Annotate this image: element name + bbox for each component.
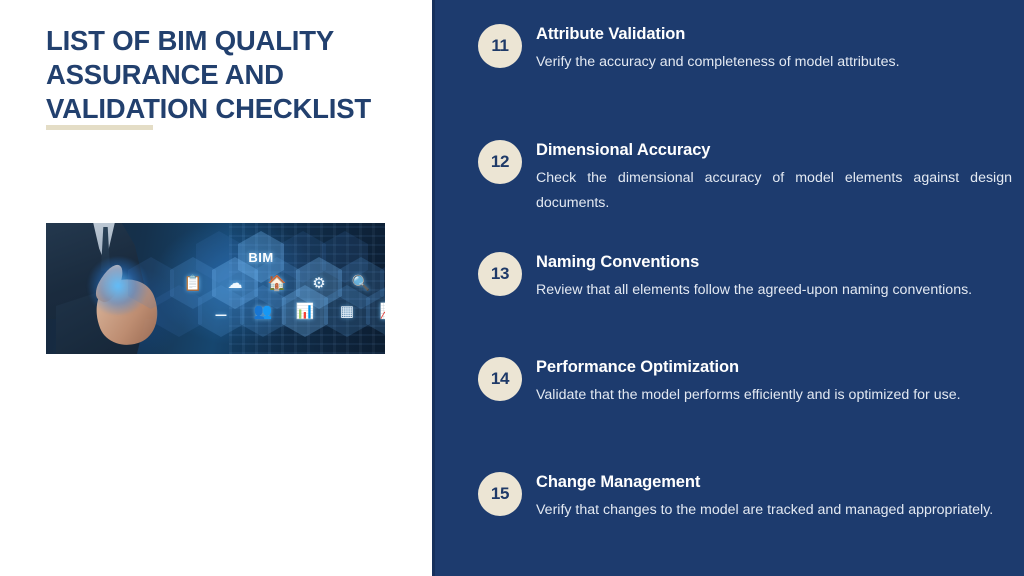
item-number-badge: 12 — [478, 140, 522, 184]
item-text-block: Change Management Verify that changes to… — [536, 472, 1012, 523]
hex-cell-bar-chart: 📊 — [282, 285, 328, 337]
page-title: LIST OF BIM QUALITY ASSURANCE AND VALIDA… — [46, 24, 438, 126]
title-accent-underline — [46, 125, 153, 130]
item-number-badge: 14 — [478, 357, 522, 401]
panel-left-edge — [432, 0, 435, 576]
item-description: Review that all elements follow the agre… — [536, 278, 1012, 303]
item-heading: Dimensional Accuracy — [536, 140, 1012, 160]
hex-cell-empty-6 — [156, 285, 202, 337]
item-text-block: Attribute Validation Verify the accuracy… — [536, 24, 1012, 75]
item-description: Verify that changes to the model are tra… — [536, 498, 1012, 523]
slide-canvas: LIST OF BIM QUALITY ASSURANCE AND VALIDA… — [0, 0, 1024, 576]
hex-cell-org-chart: ▦ — [324, 285, 370, 337]
ruler-icon: ⚊ — [214, 304, 227, 319]
left-panel: LIST OF BIM QUALITY ASSURANCE AND VALIDA… — [0, 0, 432, 576]
hex-cell-line-graph: 📈 — [366, 285, 385, 337]
org-chart-icon: ▦ — [340, 304, 354, 319]
bim-illustration-image: BIM 📋 ☁ 🏠 ⚙ 🔍 ⚊ 👥 📊 ▦ 📈 — [46, 223, 385, 354]
hex-row-bottom: ⚊ 👥 📊 ▦ 📈 — [156, 285, 385, 337]
bar-chart-icon: 📊 — [296, 304, 315, 319]
hex-cell-ruler: ⚊ — [198, 285, 244, 337]
item-description: Verify the accuracy and completeness of … — [536, 50, 1012, 75]
line-graph-icon: 📈 — [380, 304, 385, 319]
item-number-badge: 11 — [478, 24, 522, 68]
item-text-block: Naming Conventions Review that all eleme… — [536, 252, 1012, 303]
item-description: Validate that the model performs efficie… — [536, 383, 1012, 408]
item-number-badge: 15 — [478, 472, 522, 516]
hex-cell-people: 👥 — [240, 285, 286, 337]
item-heading: Performance Optimization — [536, 357, 1012, 377]
item-heading: Attribute Validation — [536, 24, 1012, 44]
item-heading: Change Management — [536, 472, 1012, 492]
item-text-block: Dimensional Accuracy Check the dimension… — [536, 140, 1012, 216]
checklist-panel: 11 Attribute Validation Verify the accur… — [432, 0, 1024, 576]
item-description: Check the dimensional accuracy of model … — [536, 166, 1012, 216]
item-text-block: Performance Optimization Validate that t… — [536, 357, 1012, 408]
item-heading: Naming Conventions — [536, 252, 1012, 272]
people-icon: 👥 — [254, 304, 273, 319]
item-number-badge: 13 — [478, 252, 522, 296]
